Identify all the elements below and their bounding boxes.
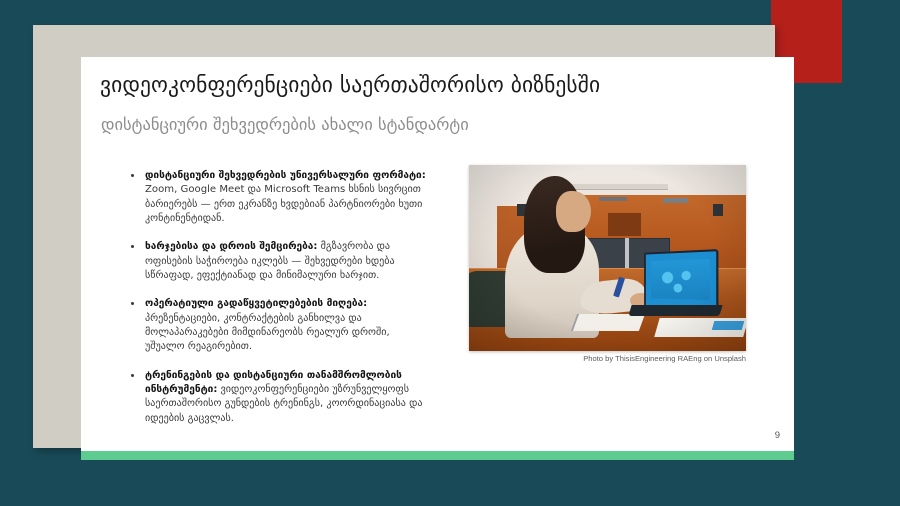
list-item: ტრენინგების და დისტანციური თანამშრომლობი…: [129, 369, 429, 426]
bullet-dot-icon: [131, 245, 134, 248]
photo-vignette: [469, 165, 746, 351]
list-item: დისტანციური შეხვედრების უნივერსალური ფორ…: [129, 169, 429, 226]
bullet-dot-icon: [131, 174, 134, 177]
bullet-body-text: Zoom, Google Meet და Microsoft Teams ხსნ…: [145, 184, 422, 224]
photo-credit: Photo by ThisisEngineering RAEng on Unsp…: [469, 354, 746, 363]
slide-frame: ვიდეოკონფერენციები საერთაშორისო ბიზნესში…: [33, 25, 775, 448]
slide-canvas: ვიდეოკონფერენციები საერთაშორისო ბიზნესში…: [81, 57, 794, 451]
bullet-body-text: პრეზენტაციები, კონტრაქტების განხილვა და …: [145, 313, 390, 353]
slide-number: 9: [775, 430, 780, 441]
slide-photo: [469, 165, 746, 351]
list-item: ხარჯებისა და დროის შემცირება: მგზავრობა …: [129, 240, 429, 283]
slide-subtitle: დისტანციური შეხვედრების ახალი სტანდარტი: [101, 115, 761, 135]
bullet-lead-text: დისტანციური შეხვედრების უნივერსალური ფორ…: [145, 170, 426, 181]
photo-conference-room: [469, 165, 746, 351]
bullet-lead-text: ოპერატიული გადაწყვეტილებების მიღება:: [145, 298, 367, 309]
slide-title: ვიდეოკონფერენციები საერთაშორისო ბიზნესში: [100, 73, 770, 99]
bullet-dot-icon: [131, 302, 134, 305]
bullet-lead-text: ხარჯებისა და დროის შემცირება:: [145, 241, 317, 252]
presentation-stage: ვიდეოკონფერენციები საერთაშორისო ბიზნესში…: [0, 0, 900, 506]
list-item: ოპერატიული გადაწყვეტილებების მიღება: პრე…: [129, 297, 429, 354]
slide-accent-bar: [81, 451, 794, 460]
bullet-dot-icon: [131, 374, 134, 377]
bullet-list: დისტანციური შეხვედრების უნივერსალური ფორ…: [129, 169, 429, 426]
